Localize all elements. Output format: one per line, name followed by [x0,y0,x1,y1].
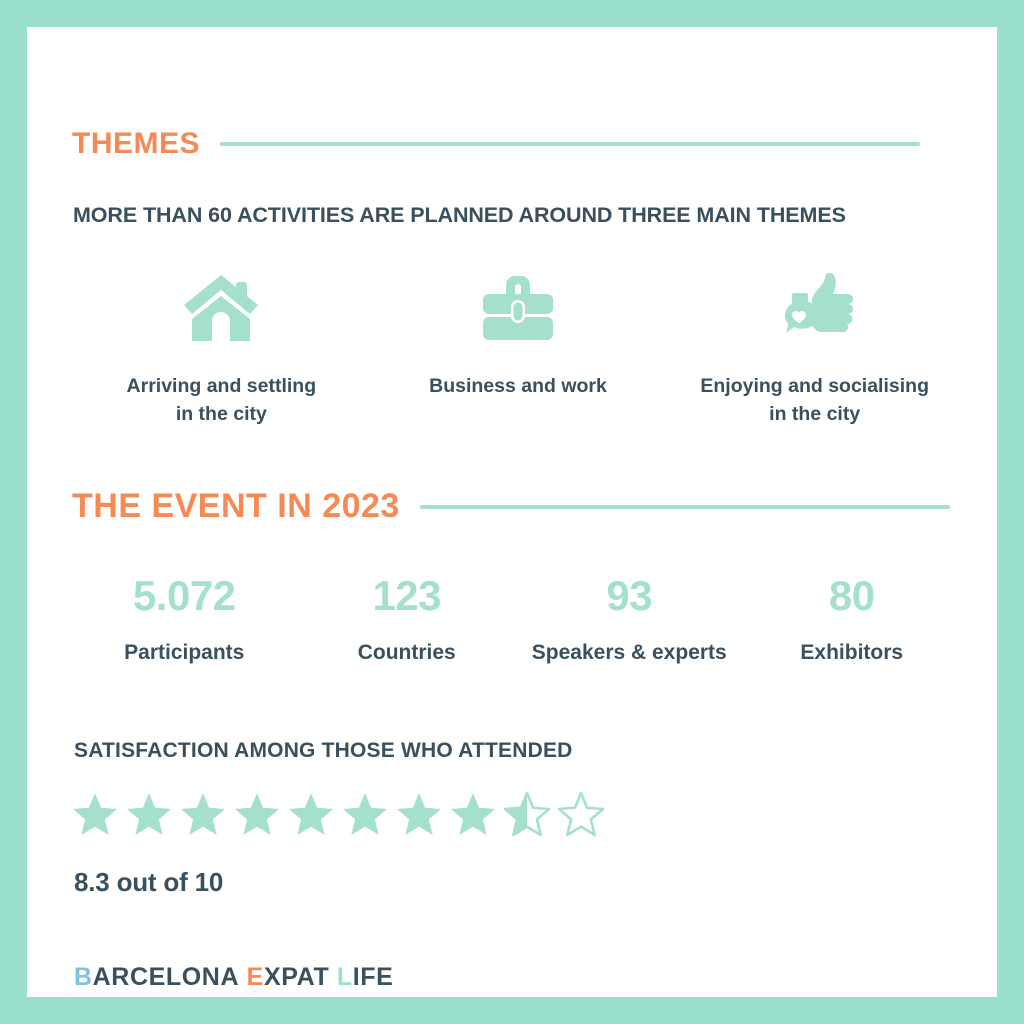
stat-participants: 5.072 Participants [73,575,296,665]
stat-value: 80 [829,575,875,617]
star-full [341,791,389,837]
logo-text-arcelona: ARCELONA [93,963,239,991]
content-sheet: THEMES MORE THAN 60 ACTIVITIES ARE PLANN… [27,27,997,997]
stat-value: 5.072 [133,575,236,617]
logo-text-ife: IFE [353,963,394,991]
star-full [449,791,497,837]
star-full [233,791,281,837]
logo-space [239,963,247,991]
star-empty [557,791,605,837]
briefcase-icon [480,267,556,347]
theme-item-business: Business and work [370,267,667,428]
event-heading-divider [420,505,950,509]
star-full [395,791,443,837]
event-heading: THE EVENT IN 2023 [72,487,400,526]
star-half [503,791,551,837]
themes-heading-divider [220,142,920,146]
stat-label: Countries [358,641,456,665]
logo-letter-l: L [337,963,353,991]
logo-letter-e: E [247,963,264,991]
stat-exhibitors: 80 Exhibitors [741,575,964,665]
satisfaction-title: SATISFACTION AMONG THOSE WHO ATTENDED [74,739,573,763]
stat-label: Speakers & experts [532,641,727,665]
logo-text-xpat: XPAT [264,963,329,991]
house-icon [182,267,260,347]
stats-row: 5.072 Participants 123 Countries 93 Spea… [73,575,963,665]
stat-value: 123 [372,575,441,617]
star-full [71,791,119,837]
stat-value: 93 [606,575,652,617]
satisfaction-score: 8.3 out of 10 [74,867,223,898]
star-full [125,791,173,837]
themes-section-header: THEMES [72,127,920,161]
logo-letter-b: B [74,963,93,991]
themes-row: Arriving and settling in the city Busine… [73,267,963,428]
event-section-header: THE EVENT IN 2023 [72,487,950,526]
themes-heading: THEMES [72,127,200,161]
brand-logo: BARCELONA EXPAT LIFE [74,963,393,992]
star-rating [71,791,605,837]
infographic-canvas: THEMES MORE THAN 60 ACTIVITIES ARE PLANN… [0,0,1024,1024]
theme-item-enjoying: Enjoying and socialising in the city [666,267,963,428]
thumbs-up-heart-icon [772,267,858,347]
stat-countries: 123 Countries [296,575,519,665]
theme-label: Arriving and settling in the city [127,373,317,428]
stat-label: Participants [124,641,244,665]
themes-subtitle: MORE THAN 60 ACTIVITIES ARE PLANNED AROU… [73,203,963,228]
theme-label: Enjoying and socialising in the city [700,373,929,428]
star-full [179,791,227,837]
stat-speakers: 93 Speakers & experts [518,575,741,665]
logo-space-2 [329,963,337,991]
stat-label: Exhibitors [800,641,903,665]
star-full [287,791,335,837]
theme-item-arriving: Arriving and settling in the city [73,267,370,428]
theme-label: Business and work [429,373,607,401]
